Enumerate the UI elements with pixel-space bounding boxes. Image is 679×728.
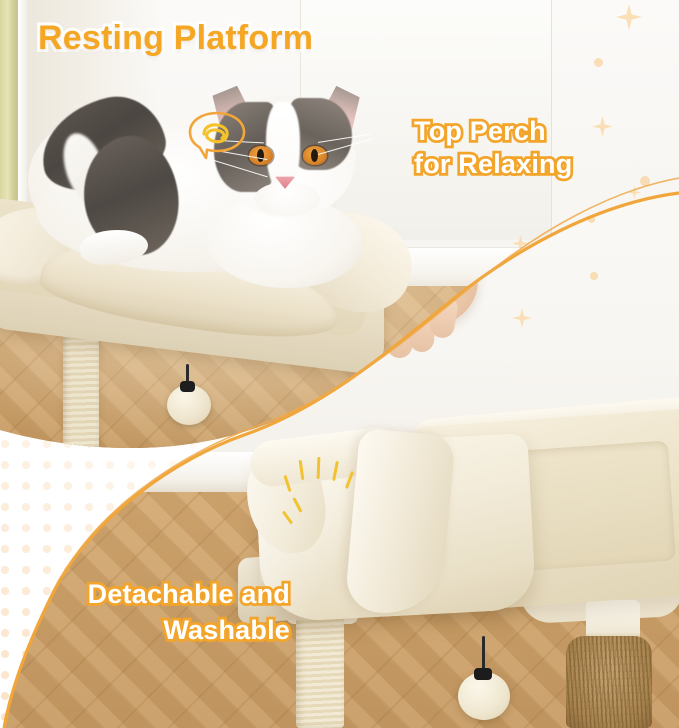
infographic-canvas: Resting Platform Top Perch for Relaxing … [0, 0, 679, 728]
sparkle-dot-icon [588, 216, 595, 223]
sisal-scratching-post [296, 612, 344, 728]
callout-title-resting-platform: Resting Platform [38, 18, 313, 58]
sparkle-dot-icon [594, 58, 603, 67]
speech-bubble-icon [186, 110, 248, 166]
bristle-grooming-post [566, 636, 652, 728]
pompom-knot [180, 381, 195, 392]
sparkle-dot-icon [590, 272, 598, 280]
cat-pupil-left [257, 149, 264, 162]
callout-top-perch: Top Perch for Relaxing [414, 115, 572, 181]
sparkle-dot-icon [640, 176, 650, 186]
pompom-knot [474, 668, 492, 680]
cat-muzzle [254, 182, 320, 216]
callout-detachable-washable: Detachable and Washable [16, 576, 290, 648]
cat-pupil-right [311, 149, 318, 162]
